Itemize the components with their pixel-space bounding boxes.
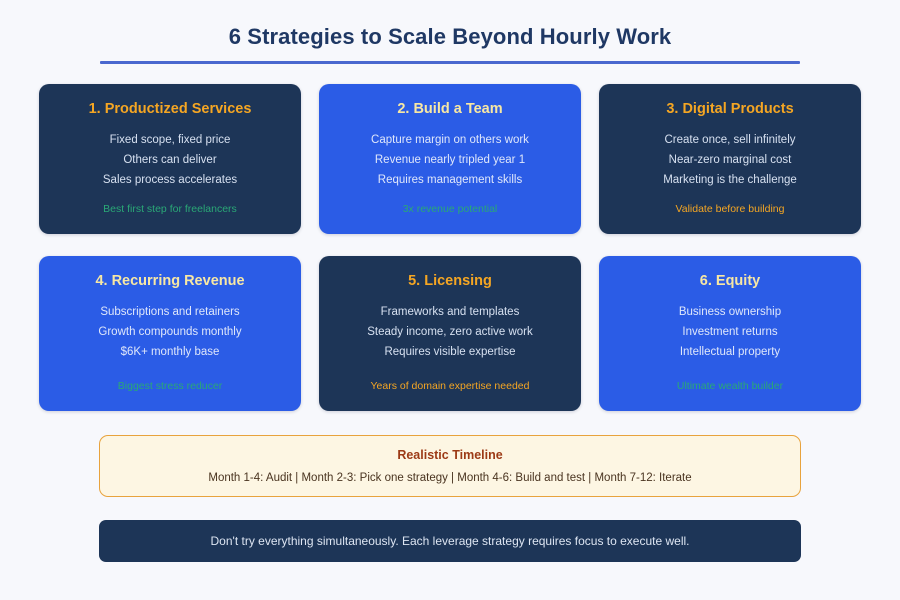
strategy-card-5-line-3: Requires visible expertise (384, 342, 515, 362)
strategy-card-6-line-2: Investment returns (682, 322, 777, 342)
title-underline-rule (100, 61, 800, 64)
strategy-card-6-title: 6. Equity (700, 272, 760, 291)
strategy-card-3[interactable]: 3. Digital Products Create once, sell in… (599, 84, 861, 234)
strategy-card-2-title: 2. Build a Team (397, 100, 502, 119)
strategy-card-3-line-3: Marketing is the challenge (663, 170, 797, 190)
strategy-card-5[interactable]: 5. Licensing Frameworks and templates St… (319, 256, 581, 411)
strategy-card-2-line-2: Revenue nearly tripled year 1 (375, 150, 525, 170)
strategy-card-2[interactable]: 2. Build a Team Capture margin on others… (319, 84, 581, 234)
strategy-card-2-line-3: Requires management skills (378, 170, 522, 190)
footer-banner: Don't try everything simultaneously. Eac… (99, 520, 801, 562)
strategy-card-2-footnote: 3x revenue potential (403, 202, 498, 220)
strategy-card-1-title: 1. Productized Services (89, 100, 252, 119)
timeline-title: Realistic Timeline (397, 447, 502, 464)
realistic-timeline-panel: Realistic Timeline Month 1-4: Audit | Mo… (99, 435, 801, 497)
strategy-card-6[interactable]: 6. Equity Business ownership Investment … (599, 256, 861, 411)
strategy-card-3-footnote: Validate before building (676, 202, 785, 220)
timeline-detail: Month 1-4: Audit | Month 2-3: Pick one s… (208, 470, 691, 486)
page-title: 6 Strategies to Scale Beyond Hourly Work (0, 22, 900, 52)
strategy-card-4-footnote: Biggest stress reducer (118, 379, 222, 397)
strategy-card-5-line-2: Steady income, zero active work (367, 322, 533, 342)
strategy-card-3-title: 3. Digital Products (666, 100, 793, 119)
strategy-card-1-line-1: Fixed scope, fixed price (110, 130, 231, 150)
strategy-card-4-line-2: Growth compounds monthly (98, 322, 241, 342)
strategy-card-grid: 1. Productized Services Fixed scope, fix… (39, 84, 861, 411)
strategy-card-6-line-1: Business ownership (679, 302, 781, 322)
strategy-card-5-footnote: Years of domain expertise needed (371, 379, 530, 397)
strategy-card-1-line-2: Others can deliver (123, 150, 216, 170)
strategy-card-3-line-2: Near-zero marginal cost (669, 150, 792, 170)
strategy-card-1-footnote: Best first step for freelancers (103, 202, 237, 220)
strategy-card-4-line-1: Subscriptions and retainers (100, 302, 239, 322)
strategy-card-1[interactable]: 1. Productized Services Fixed scope, fix… (39, 84, 301, 234)
header: 6 Strategies to Scale Beyond Hourly Work (0, 0, 900, 64)
strategy-card-1-line-3: Sales process accelerates (103, 170, 237, 190)
strategy-card-5-title: 5. Licensing (408, 272, 492, 291)
strategy-card-6-footnote: Ultimate wealth builder (677, 379, 783, 397)
strategy-card-3-line-1: Create once, sell infinitely (664, 130, 795, 150)
footer-banner-text: Don't try everything simultaneously. Eac… (211, 533, 690, 550)
infographic-page: 6 Strategies to Scale Beyond Hourly Work… (0, 0, 900, 600)
strategy-card-4-title: 4. Recurring Revenue (95, 272, 244, 291)
strategy-card-4-line-3: $6K+ monthly base (121, 342, 220, 362)
strategy-card-2-line-1: Capture margin on others work (371, 130, 529, 150)
strategy-card-5-line-1: Frameworks and templates (381, 302, 520, 322)
strategy-card-6-line-3: Intellectual property (680, 342, 780, 362)
strategy-card-4[interactable]: 4. Recurring Revenue Subscriptions and r… (39, 256, 301, 411)
